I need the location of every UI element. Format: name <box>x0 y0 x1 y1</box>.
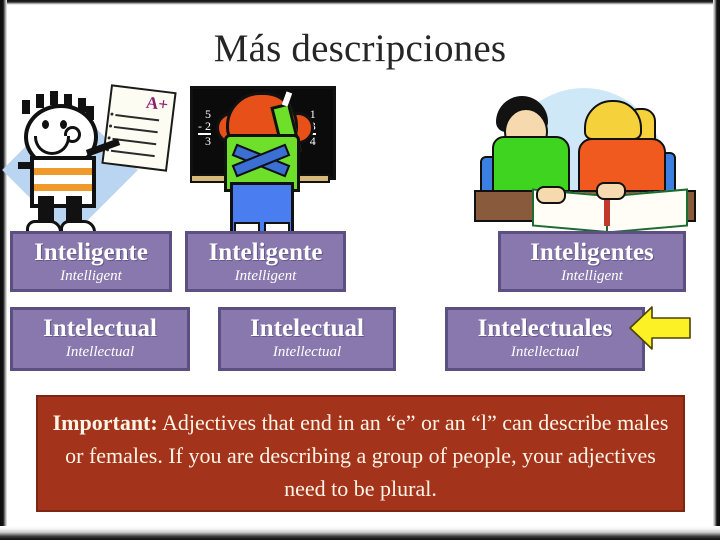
vocab-term: Intelectual <box>221 314 393 343</box>
slide-left-edge <box>0 0 7 540</box>
vocab-translation: Intelligent <box>188 267 343 286</box>
vocab-cell-intelectuales-plural[interactable]: Intelectuales Intellectual <box>445 307 645 371</box>
vocab-term: Intelectual <box>13 314 187 343</box>
grade-label: A+ <box>145 93 169 116</box>
students-reading-book-image <box>474 82 696 234</box>
left-arrow-icon <box>628 303 692 353</box>
vocab-term: Inteligente <box>188 238 343 267</box>
slide-right-edge <box>713 0 720 540</box>
student-at-blackboard-image: 5- 23 1+ 34 <box>190 86 330 234</box>
vocab-translation: Intelligent <box>501 267 683 286</box>
vocab-term: Inteligentes <box>501 238 683 267</box>
slide-bottom-edge <box>0 526 720 540</box>
note-lead-label: Important: <box>53 410 158 435</box>
vocab-translation: Intellectual <box>448 343 642 362</box>
vocab-term: Intelectuales <box>448 314 642 343</box>
vocab-translation: Intellectual <box>221 343 393 362</box>
slide-top-edge <box>0 0 720 5</box>
important-note-box: Important: Adjectives that end in an “e”… <box>36 395 685 512</box>
slide: Más descripciones A+ 5 <box>0 0 720 540</box>
vocab-cell-intelectual-masc[interactable]: Intelectual Intellectual <box>10 307 190 371</box>
vocab-term: Inteligente <box>13 238 169 267</box>
vocab-cell-inteligentes-plural[interactable]: Inteligentes Intelligent <box>498 231 686 292</box>
vocab-translation: Intelligent <box>13 267 169 286</box>
graded-paper-icon: A+ <box>101 84 176 171</box>
student-with-a-plus-paper-image: A+ <box>8 86 184 232</box>
vocab-cell-inteligente-fem[interactable]: Inteligente Intelligent <box>185 231 346 292</box>
vocab-cell-inteligente-masc[interactable]: Inteligente Intelligent <box>10 231 172 292</box>
page-title: Más descripciones <box>0 26 720 72</box>
vocab-cell-intelectual-fem[interactable]: Intelectual Intellectual <box>218 307 396 371</box>
vocab-translation: Intellectual <box>13 343 187 362</box>
